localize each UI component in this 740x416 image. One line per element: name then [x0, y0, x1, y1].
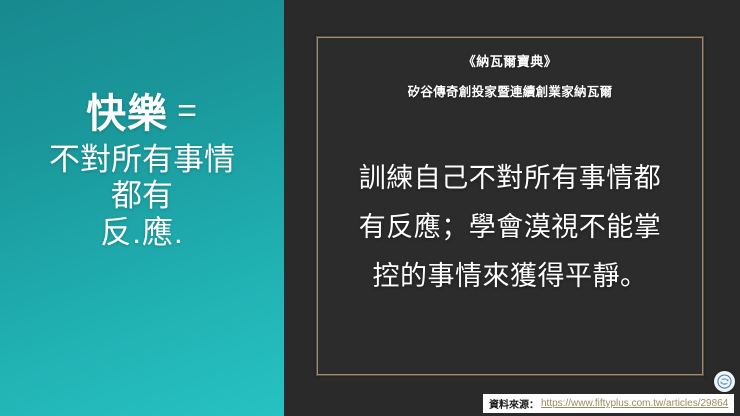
watermark-badge [714, 371, 735, 392]
headline-line-1-text: 快樂 [86, 92, 168, 136]
quote-line-2: 有反應；學會漠視不能掌 [359, 214, 662, 241]
quote-card-header: 《納瓦爾寶典》 矽谷傳奇創投家暨連續創業家納瓦爾 [318, 38, 702, 100]
quote-line-1: 訓練自己不對所有事情都 [359, 165, 662, 192]
book-title: 《納瓦爾寶典》 [318, 52, 702, 72]
headline-line-3: 都有 [0, 178, 284, 215]
source-caption: 資料來源： https://www.fiftyplus.com.tw/artic… [483, 394, 734, 413]
source-label: 資料來源： [489, 396, 539, 411]
headline-line-1: 快樂= [0, 91, 284, 138]
headline-line-2: 不對所有事情 [0, 142, 284, 179]
quote-card: 《納瓦爾寶典》 矽谷傳奇創投家暨連續創業家納瓦爾 訓練自己不對所有事情都 有反應… [317, 37, 703, 375]
source-url-link[interactable]: https://www.fiftyplus.com.tw/articles/29… [541, 398, 728, 409]
quote-line-3: 控的事情來獲得平靜。 [373, 263, 648, 290]
headline-block: 快樂= 不對所有事情 都有 反.應. [0, 91, 284, 326]
slide-canvas: 快樂= 不對所有事情 都有 反.應. 《納瓦爾寶典》 矽谷傳奇創投家暨連續創業家… [0, 0, 740, 416]
quote-body: 訓練自己不對所有事情都 有反應；學會漠視不能掌 控的事情來獲得平靜。 [318, 100, 702, 375]
headline-line-4: 反.應. [0, 215, 284, 252]
swirl-logo-icon [717, 374, 732, 389]
equals-sign: = [168, 92, 198, 130]
right-dark-panel: 《納瓦爾寶典》 矽谷傳奇創投家暨連續創業家納瓦爾 訓練自己不對所有事情都 有反應… [284, 0, 740, 416]
author-subtitle: 矽谷傳奇創投家暨連續創業家納瓦爾 [318, 81, 702, 100]
left-teal-panel: 快樂= 不對所有事情 都有 反.應. [0, 0, 284, 416]
